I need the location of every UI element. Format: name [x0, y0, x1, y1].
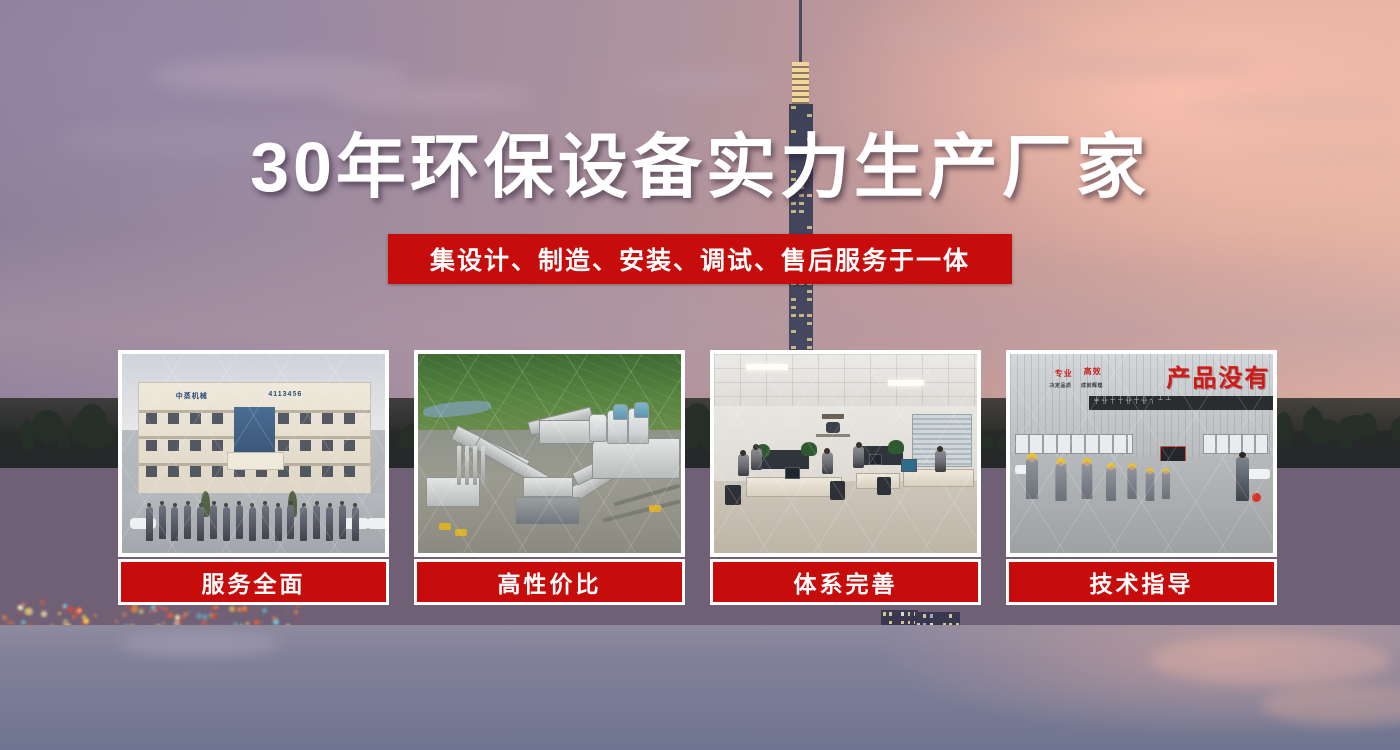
card-caption: 体系完善: [710, 559, 981, 605]
feature-card-list: 中蒸机械 4113456: [118, 350, 1282, 605]
worker-figure: [1162, 473, 1170, 500]
facade-band-text: ╪╬┼┼╬┼╬┐┴┴: [1094, 397, 1174, 404]
shore-light: [24, 608, 31, 615]
card-caption-text: 高性价比: [498, 565, 602, 599]
shore-light: [58, 612, 61, 615]
tree: [1391, 416, 1400, 442]
tree: [32, 410, 63, 440]
water-reflection: [1150, 635, 1390, 685]
worker-figure: [1106, 468, 1116, 501]
wall-decal: [814, 414, 852, 442]
shore-light: [260, 622, 262, 624]
tree: [1358, 413, 1377, 439]
shore-light: [72, 615, 76, 619]
shore-light: [294, 610, 298, 614]
shore-light: [175, 615, 180, 620]
worker-figure: [1026, 459, 1038, 499]
shore-light: [115, 620, 118, 623]
shore-light: [168, 613, 173, 618]
shore-light: [189, 611, 191, 613]
shore-light: [184, 612, 188, 616]
worker-figure: [1127, 468, 1136, 499]
staff-figure: [352, 507, 359, 541]
staff-figure: [275, 507, 282, 541]
shore-light: [12, 622, 14, 624]
building-porch: [227, 452, 285, 470]
tree: [88, 429, 101, 450]
factory-window-row: [1203, 434, 1268, 454]
card-caption-text: 体系完善: [794, 565, 898, 599]
shore-light: [216, 613, 218, 615]
shore-light: [18, 611, 21, 614]
water-reflection: [1260, 685, 1400, 725]
cloud: [1010, 52, 1260, 78]
staff-figure: [287, 505, 294, 539]
shore-light: [67, 606, 74, 613]
office-building: 中蒸机械 4113456: [138, 382, 371, 495]
shore-light: [149, 610, 152, 613]
shore-light: [94, 614, 97, 617]
subtitle-text: 集设计、制造、安装、调试、售后服务于一体: [430, 241, 970, 277]
water-reflection: [120, 631, 280, 657]
card-caption: 高性价比: [414, 559, 685, 605]
factory-window-row: [1015, 434, 1133, 454]
hero-banner: 30年环保设备实力生产厂家 集设计、制造、安装、调试、售后服务于一体 中蒸机械 …: [0, 0, 1400, 750]
card-caption: 服务全面: [118, 559, 389, 605]
cloud: [330, 86, 530, 108]
staff-figure: [339, 505, 346, 539]
staff-figure: [146, 507, 153, 541]
shore-light: [122, 612, 127, 617]
feature-card[interactable]: 产品没有 专业 高效 决定品质 成就辉煌 ╪╬┼┼╬┼╬┐┴┴: [1006, 350, 1277, 605]
wall-slogan-small: 专业: [1055, 368, 1073, 379]
building-phone-text: 4113456: [268, 391, 302, 398]
shore-light: [154, 605, 161, 612]
cloud: [1180, 96, 1400, 120]
card-caption-text: 技术指导: [1090, 565, 1194, 599]
feature-card[interactable]: 体系完善: [710, 350, 981, 605]
shore-light: [78, 609, 81, 612]
staff-figure: [236, 505, 243, 539]
supervisor-figure: [1236, 457, 1249, 501]
tree: [1308, 418, 1328, 445]
tree: [21, 425, 35, 450]
staff-figure: [184, 505, 191, 539]
wall-slogan-sub: 决定品质: [1049, 382, 1071, 389]
feature-card[interactable]: 高性价比: [414, 350, 685, 605]
shore-light: [41, 611, 47, 617]
worker-figure: [1055, 464, 1066, 502]
shore-light: [82, 615, 86, 619]
wall-slogan-large: 产品没有: [1166, 358, 1270, 393]
cloud: [620, 74, 780, 90]
tower-lit-section: [792, 62, 809, 106]
staff-figure: [197, 507, 204, 541]
shore-light: [214, 605, 218, 609]
shore-light: [229, 606, 235, 612]
building-sign-text: 中蒸机械: [176, 391, 208, 401]
factory-apron: [1010, 461, 1273, 553]
subtitle-banner: 集设计、制造、安装、调试、售后服务于一体: [388, 234, 1012, 284]
ceiling-grid: [714, 354, 977, 406]
shore-light: [272, 616, 277, 621]
shore-light: [262, 608, 267, 613]
shore-light: [18, 605, 23, 610]
shore-light: [179, 619, 183, 623]
staff-figure: [210, 505, 217, 539]
card-photo-company-building: 中蒸机械 4113456: [118, 350, 389, 557]
staff-figure: [313, 505, 320, 539]
card-caption: 技术指导: [1006, 559, 1277, 605]
card-photo-plant-aerial: [414, 350, 685, 557]
card-caption-text: 服务全面: [202, 565, 306, 599]
wall-slogan-sub: 成就辉煌: [1081, 382, 1103, 389]
shore-light: [196, 613, 202, 619]
staff-figure: [171, 507, 178, 541]
cloud: [880, 26, 1060, 46]
shore-light: [40, 600, 45, 605]
card-photo-workers-training: 产品没有 专业 高效 决定品质 成就辉煌 ╪╬┼┼╬┼╬┐┴┴: [1006, 350, 1277, 557]
page-title: 30年环保设备实力生产厂家: [0, 132, 1400, 202]
shore-light: [126, 605, 130, 609]
staff-figure: [159, 505, 166, 539]
shore-light: [297, 617, 300, 620]
feature-card[interactable]: 中蒸机械 4113456: [118, 350, 389, 605]
shore-light: [255, 608, 258, 611]
shore-light: [139, 609, 144, 614]
card-photo-office-interior: [710, 350, 981, 557]
worker-figure: [1146, 473, 1155, 502]
shore-light: [286, 609, 288, 611]
staff-figure: [262, 505, 269, 539]
tower-spire: [799, 0, 802, 62]
shore-light: [2, 615, 7, 620]
shore-light: [131, 606, 138, 613]
wall-slogan-small: 高效: [1084, 366, 1102, 377]
staff-figure: [326, 507, 333, 541]
staff-figure: [249, 507, 256, 541]
staff-figure: [300, 507, 307, 541]
river-water: [0, 625, 1400, 750]
worker-figure: [1082, 464, 1093, 500]
staff-figure: [223, 507, 230, 541]
